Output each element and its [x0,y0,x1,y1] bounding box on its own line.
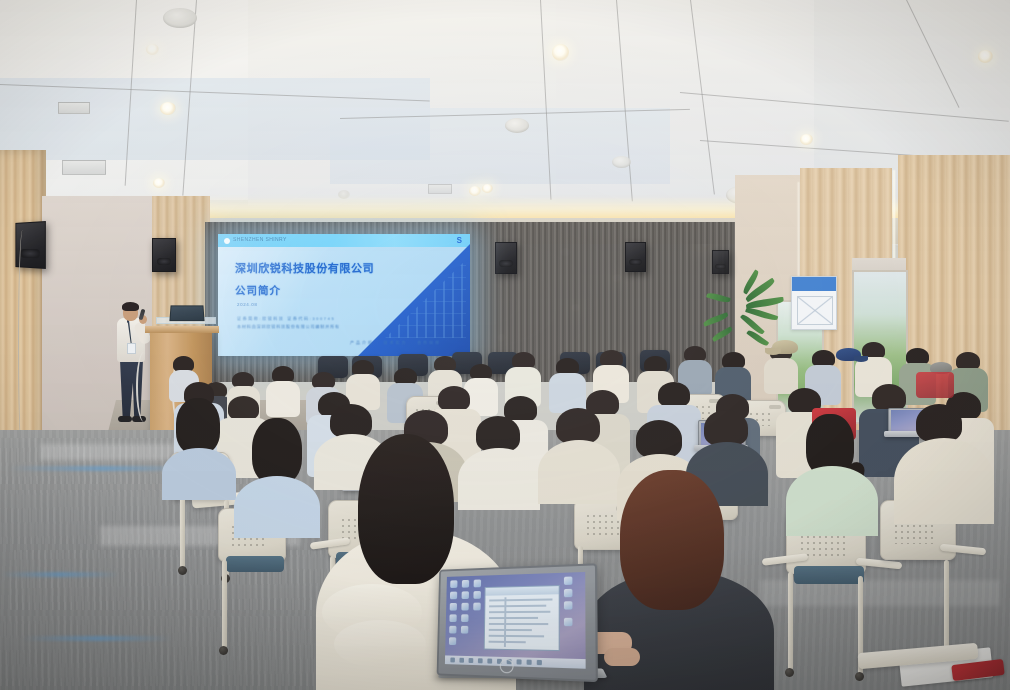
desktop-icon[interactable] [564,601,572,609]
chair-caster [785,668,794,677]
desktop-icon[interactable] [564,618,573,626]
dialog-title-bar[interactable] [486,586,559,596]
person-torso [162,448,236,500]
open-dialog-window[interactable] [484,585,560,651]
desktop-icon[interactable] [449,637,456,645]
chair-seat [226,556,284,572]
desktop-icon[interactable] [449,626,456,634]
person-hair [176,398,220,454]
taskbar[interactable] [445,655,586,668]
person-hair [636,420,682,458]
desktop-icon[interactable] [564,577,572,585]
desktop-icon[interactable] [450,580,457,588]
person-torso [786,466,878,536]
chair-leg [788,572,793,670]
person-hair [330,404,372,438]
laptop-lid [437,563,598,682]
conference-room-photo: SHENZHEN SHINRY S 深圳欣锐科技股份有限公司 公司简介 2024… [0,0,1010,690]
person-torso [894,438,994,524]
desktop-icon[interactable] [462,591,469,599]
chair-caster [855,672,864,681]
person-hair [476,416,520,452]
desktop-icon[interactable] [462,580,469,588]
person-hair [620,470,724,610]
dialog-row [489,635,544,637]
desktop-icon[interactable] [461,614,468,622]
person-torso [458,448,540,510]
person-hair [252,418,302,484]
hp-logo-icon [500,659,514,674]
desktop-icon[interactable] [564,589,572,597]
person-hair [704,410,748,446]
taskbar-icon[interactable] [459,658,464,663]
taskbar-icon[interactable] [450,657,455,662]
desktop-icon[interactable] [461,603,468,611]
chair-caster [178,566,187,575]
person-torso [234,476,320,538]
desktop-icon[interactable] [461,626,468,634]
person-hair [358,434,454,584]
hp-laptop-foreground[interactable] [432,566,607,684]
taskbar-icon[interactable] [517,659,522,664]
chair-leg [222,560,227,648]
dialog-row [489,605,546,607]
person-torso [538,440,620,504]
dialog-row [489,623,548,625]
dialog-row [489,611,550,613]
laptop-screen[interactable] [445,572,586,669]
blouse-ruffle [334,620,426,668]
desktop-icon[interactable] [450,592,457,600]
taskbar-icon[interactable] [537,660,542,665]
desktop-icon[interactable] [450,603,457,611]
dialog-row [489,617,538,619]
dialog-divider [504,597,506,647]
taskbar-icon[interactable] [487,659,492,664]
desktop-icon[interactable] [474,579,482,587]
dialog-row [489,598,552,601]
desktop-icon[interactable] [449,614,456,622]
taskbar-icon[interactable] [478,658,483,663]
desktop-icon[interactable] [473,591,481,599]
dialog-row [489,641,526,643]
person-hair [916,404,962,442]
taskbar-icon[interactable] [469,658,474,663]
chair-caster [219,646,228,655]
person-hair [556,408,600,444]
chair-seat [794,566,864,584]
person-hand [604,648,640,666]
chair-leg [180,496,185,568]
desktop-icon[interactable] [473,603,481,611]
dialog-row [489,629,532,631]
taskbar-icon[interactable] [527,660,532,665]
chair-leg [944,560,949,650]
